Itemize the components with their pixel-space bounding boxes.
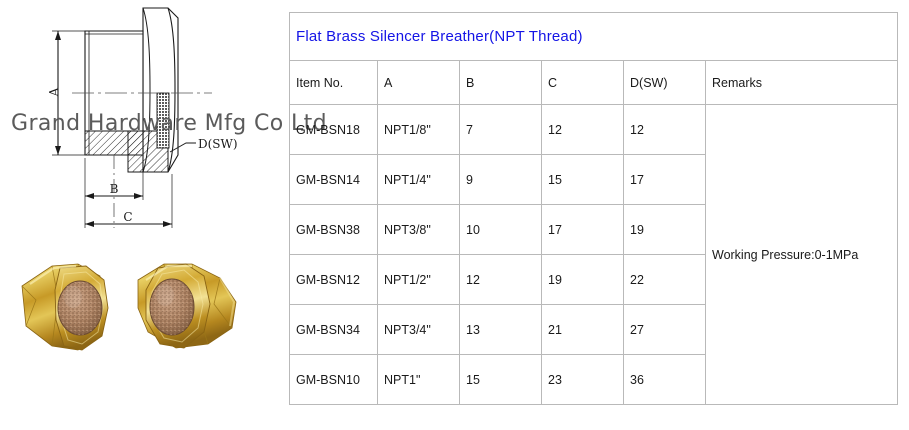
cell-item-no: GM-BSN10 bbox=[290, 355, 378, 405]
column-header-a: A bbox=[378, 61, 460, 105]
dimension-label-b: B bbox=[110, 182, 119, 196]
dimension-label-a: A bbox=[47, 87, 61, 97]
cell-a: NPT3/8" bbox=[378, 205, 460, 255]
cell-item-no: GM-BSN34 bbox=[290, 305, 378, 355]
column-header-d-sw: D(SW) bbox=[624, 61, 706, 105]
cell-b: 10 bbox=[460, 205, 542, 255]
column-header-remarks: Remarks bbox=[706, 61, 898, 105]
cell-a: NPT1/2" bbox=[378, 255, 460, 305]
cell-item-no: GM-BSN12 bbox=[290, 255, 378, 305]
cell-remarks: Working Pressure:0-1MPa bbox=[706, 105, 898, 405]
column-header-item-no: Item No. bbox=[290, 61, 378, 105]
cell-d-sw: 19 bbox=[624, 205, 706, 255]
table-row: GM-BSN18 NPT1/8" 7 12 12 Working Pressur… bbox=[290, 105, 898, 155]
cell-a: NPT1" bbox=[378, 355, 460, 405]
spec-table-container: Flat Brass Silencer Breather(NPT Thread)… bbox=[289, 12, 897, 426]
cell-c: 15 bbox=[542, 155, 624, 205]
specification-table: Flat Brass Silencer Breather(NPT Thread)… bbox=[289, 12, 898, 405]
plug-left bbox=[22, 264, 108, 350]
column-header-b: B bbox=[460, 61, 542, 105]
left-illustration-panel: A B C D(SW) Grand Hardware Mfg Co Ltd bbox=[0, 0, 278, 430]
product-photo: Grand Hardware Mfg Co Ltd bbox=[0, 228, 278, 430]
cell-item-no: GM-BSN38 bbox=[290, 205, 378, 255]
product-spec-page: A B C D(SW) Grand Hardware Mfg Co Ltd bbox=[0, 0, 909, 430]
cell-d-sw: 36 bbox=[624, 355, 706, 405]
cell-b: 15 bbox=[460, 355, 542, 405]
cell-d-sw: 27 bbox=[624, 305, 706, 355]
dimension-label-d: D(SW) bbox=[198, 137, 238, 151]
cell-b: 12 bbox=[460, 255, 542, 305]
cell-b: 9 bbox=[460, 155, 542, 205]
product-photo-svg bbox=[0, 228, 278, 430]
cell-a: NPT1/8" bbox=[378, 105, 460, 155]
cell-b: 7 bbox=[460, 105, 542, 155]
cell-a: NPT3/4" bbox=[378, 305, 460, 355]
cell-item-no: GM-BSN18 bbox=[290, 105, 378, 155]
cell-d-sw: 17 bbox=[624, 155, 706, 205]
technical-drawing: A B C D(SW) Grand Hardware Mfg Co Ltd bbox=[0, 0, 278, 235]
cell-c: 19 bbox=[542, 255, 624, 305]
dimension-label-c: C bbox=[123, 210, 132, 224]
page-title: Flat Brass Silencer Breather(NPT Thread) bbox=[290, 13, 898, 61]
cell-d-sw: 22 bbox=[624, 255, 706, 305]
cell-item-no: GM-BSN14 bbox=[290, 155, 378, 205]
cell-c: 12 bbox=[542, 105, 624, 155]
watermark-drawing: Grand Hardware Mfg Co Ltd bbox=[11, 111, 327, 136]
cell-c: 21 bbox=[542, 305, 624, 355]
plug-right bbox=[138, 264, 236, 348]
column-header-c: C bbox=[542, 61, 624, 105]
cell-a: NPT1/4" bbox=[378, 155, 460, 205]
cell-c: 17 bbox=[542, 205, 624, 255]
table-header-row: Item No. A B C D(SW) Remarks bbox=[290, 61, 898, 105]
cell-b: 13 bbox=[460, 305, 542, 355]
cell-c: 23 bbox=[542, 355, 624, 405]
cell-d-sw: 12 bbox=[624, 105, 706, 155]
table-title-row: Flat Brass Silencer Breather(NPT Thread) bbox=[290, 13, 898, 61]
